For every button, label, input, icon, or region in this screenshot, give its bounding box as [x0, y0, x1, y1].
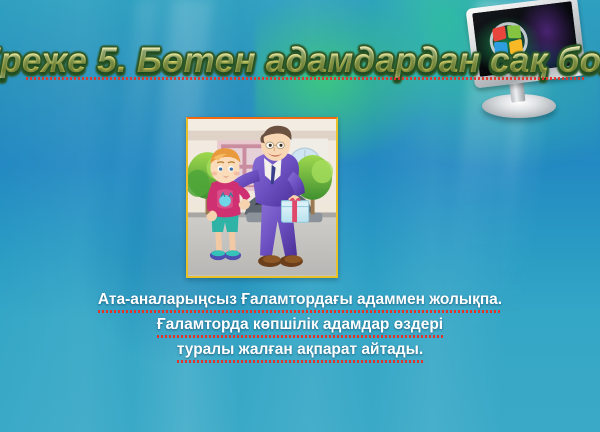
slide-body-text: Ата-аналарыңсыз Ғаламтордағы адаммен жол…	[0, 288, 600, 363]
body-line-1: Ата-аналарыңсыз Ғаламтордағы адаммен жол…	[98, 288, 502, 313]
illustration-artwork	[188, 119, 336, 276]
presentation-slide: Ереже 5. Бөтен адамдардан сақ бол	[0, 0, 600, 432]
body-line-3-wrap: туралы жалған ақпарат айтады.	[0, 338, 600, 363]
slide-title: Ереже 5. Бөтен адамдардан сақ бол	[0, 43, 600, 78]
body-line-2-wrap: Ғаламторда көпшілік адамдар өздері	[0, 313, 600, 338]
body-line-3: туралы жалған ақпарат айтады.	[177, 338, 423, 363]
body-line-1-wrap: Ата-аналарыңсыз Ғаламтордағы адаммен жол…	[0, 288, 600, 313]
body-line-2: Ғаламторда көпшілік адамдар өздері	[157, 313, 443, 338]
illustration-stranger-offering-gift	[186, 117, 338, 278]
slide-title-container: Ереже 5. Бөтен адамдардан сақ бол	[0, 34, 600, 86]
